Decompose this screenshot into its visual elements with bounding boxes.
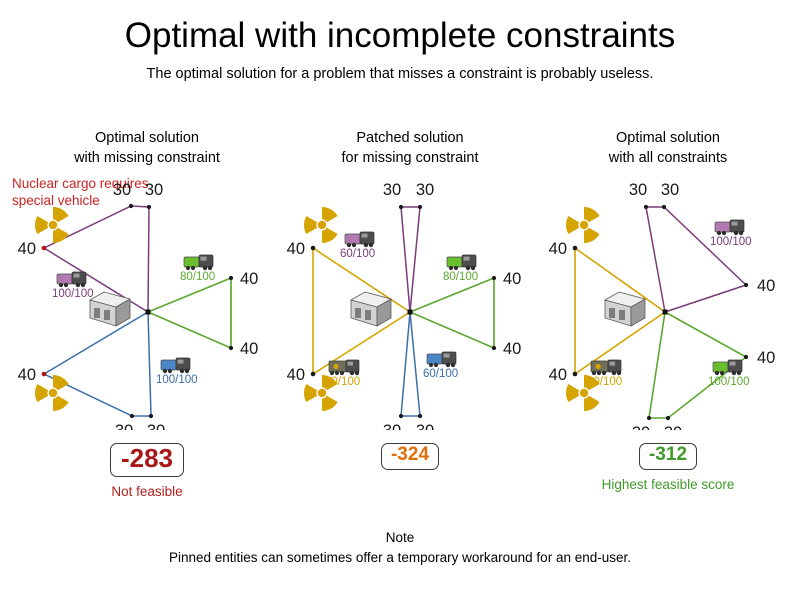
demand-label: 30 (416, 422, 434, 430)
vehicle-cargo-label: 60/100 (340, 248, 375, 260)
score-feasibility-label: Highest feasible score (533, 477, 800, 492)
truck-icon-nuclear (591, 360, 621, 375)
slide-root: Optimal with incomplete constraints The … (0, 0, 800, 600)
demand-label: 30 (113, 181, 131, 199)
radioactive-icon (35, 207, 69, 243)
demand-label: 40 (287, 366, 305, 384)
score-cell-3: -312 Highest feasible score (533, 443, 800, 492)
score-row: -283 Not feasible -324 -312 Highest feas… (0, 443, 800, 503)
demand-label: 30 (416, 181, 434, 199)
warehouse-icon (90, 292, 130, 326)
vehicle-cargo-label: 80/100 (443, 271, 478, 283)
vehicle-cargo-label: 100/100 (710, 236, 752, 248)
panel-3-diagram: 100/100 100/100 80/100 30 (533, 120, 800, 430)
score-cell-2: -324 (275, 443, 545, 477)
truck-icon (427, 352, 456, 367)
truck-icon (57, 272, 86, 287)
demand-label: 30 (629, 181, 647, 199)
score-badge: -283 (110, 443, 184, 477)
demand-label: 40 (757, 277, 775, 295)
vehicle-cargo-label: 80/100 (180, 271, 215, 283)
demand-label: 30 (383, 181, 401, 199)
panel-2-diagram: 60/100 80/100 60/100 (275, 120, 545, 430)
score-badge: -324 (381, 443, 439, 470)
note-heading: Note (0, 528, 800, 548)
demand-label: 40 (287, 240, 305, 258)
vehicle-cargo-label: 80/100 (587, 376, 622, 388)
warehouse-icon (351, 292, 391, 326)
warehouse-icon (605, 292, 645, 326)
score-badge: -312 (639, 443, 697, 470)
vehicle-cargo-label: 100/100 (708, 376, 750, 388)
truck-icon (345, 232, 374, 247)
demand-label: 40 (18, 240, 36, 258)
vehicle-cargo-label: 100/100 (156, 374, 198, 386)
score-cell-1: -283 Not feasible (12, 443, 282, 499)
panel-optimal-all-constraints: Optimal solution with all constraints (533, 120, 800, 430)
note-body: Pinned entities can sometimes offer a te… (0, 548, 800, 568)
vehicle-cargo-label: 100/100 (52, 288, 94, 300)
truck-icon (447, 255, 476, 270)
radioactive-icon (35, 375, 69, 411)
radioactive-icon (566, 207, 600, 243)
demand-label: 40 (18, 366, 36, 384)
panel-1-diagram: 100/100 80/100 100/100 30 30 30 30 (12, 120, 282, 430)
demand-label: 40 (549, 240, 567, 258)
score-feasibility-label: Not feasible (12, 484, 282, 499)
demand-label: 30 (147, 422, 165, 430)
vehicle-cargo-label: 80/100 (325, 376, 360, 388)
truck-icon-nuclear (329, 360, 359, 375)
demand-label: 40 (503, 270, 521, 288)
demand-label: 30 (145, 181, 163, 199)
demand-label: 30 (661, 181, 679, 199)
truck-icon (715, 220, 744, 235)
demand-label: 40 (240, 340, 258, 358)
route-lines-panel-1 (44, 206, 231, 416)
demand-label: 30 (632, 424, 650, 430)
footer-note: Note Pinned entities can sometimes offer… (0, 528, 800, 568)
panel-optimal-missing-constraint: Optimal solution with missing constraint… (12, 120, 282, 430)
demand-label: 30 (383, 422, 401, 430)
radioactive-icon (304, 207, 338, 243)
demand-label: 40 (503, 340, 521, 358)
demand-label: 40 (240, 270, 258, 288)
page-subtitle: The optimal solution for a problem that … (0, 66, 800, 82)
demand-label: 30 (664, 424, 682, 430)
truck-icon (161, 358, 190, 373)
truck-icon (184, 255, 213, 270)
demand-label: 40 (549, 366, 567, 384)
panel-patched-missing-constraint: Patched solution for missing constraint (275, 120, 545, 430)
vehicle-cargo-label: 60/100 (423, 368, 458, 380)
demand-label: 30 (115, 422, 133, 430)
page-title: Optimal with incomplete constraints (0, 16, 800, 56)
demand-label: 40 (757, 349, 775, 367)
truck-icon (713, 360, 742, 375)
